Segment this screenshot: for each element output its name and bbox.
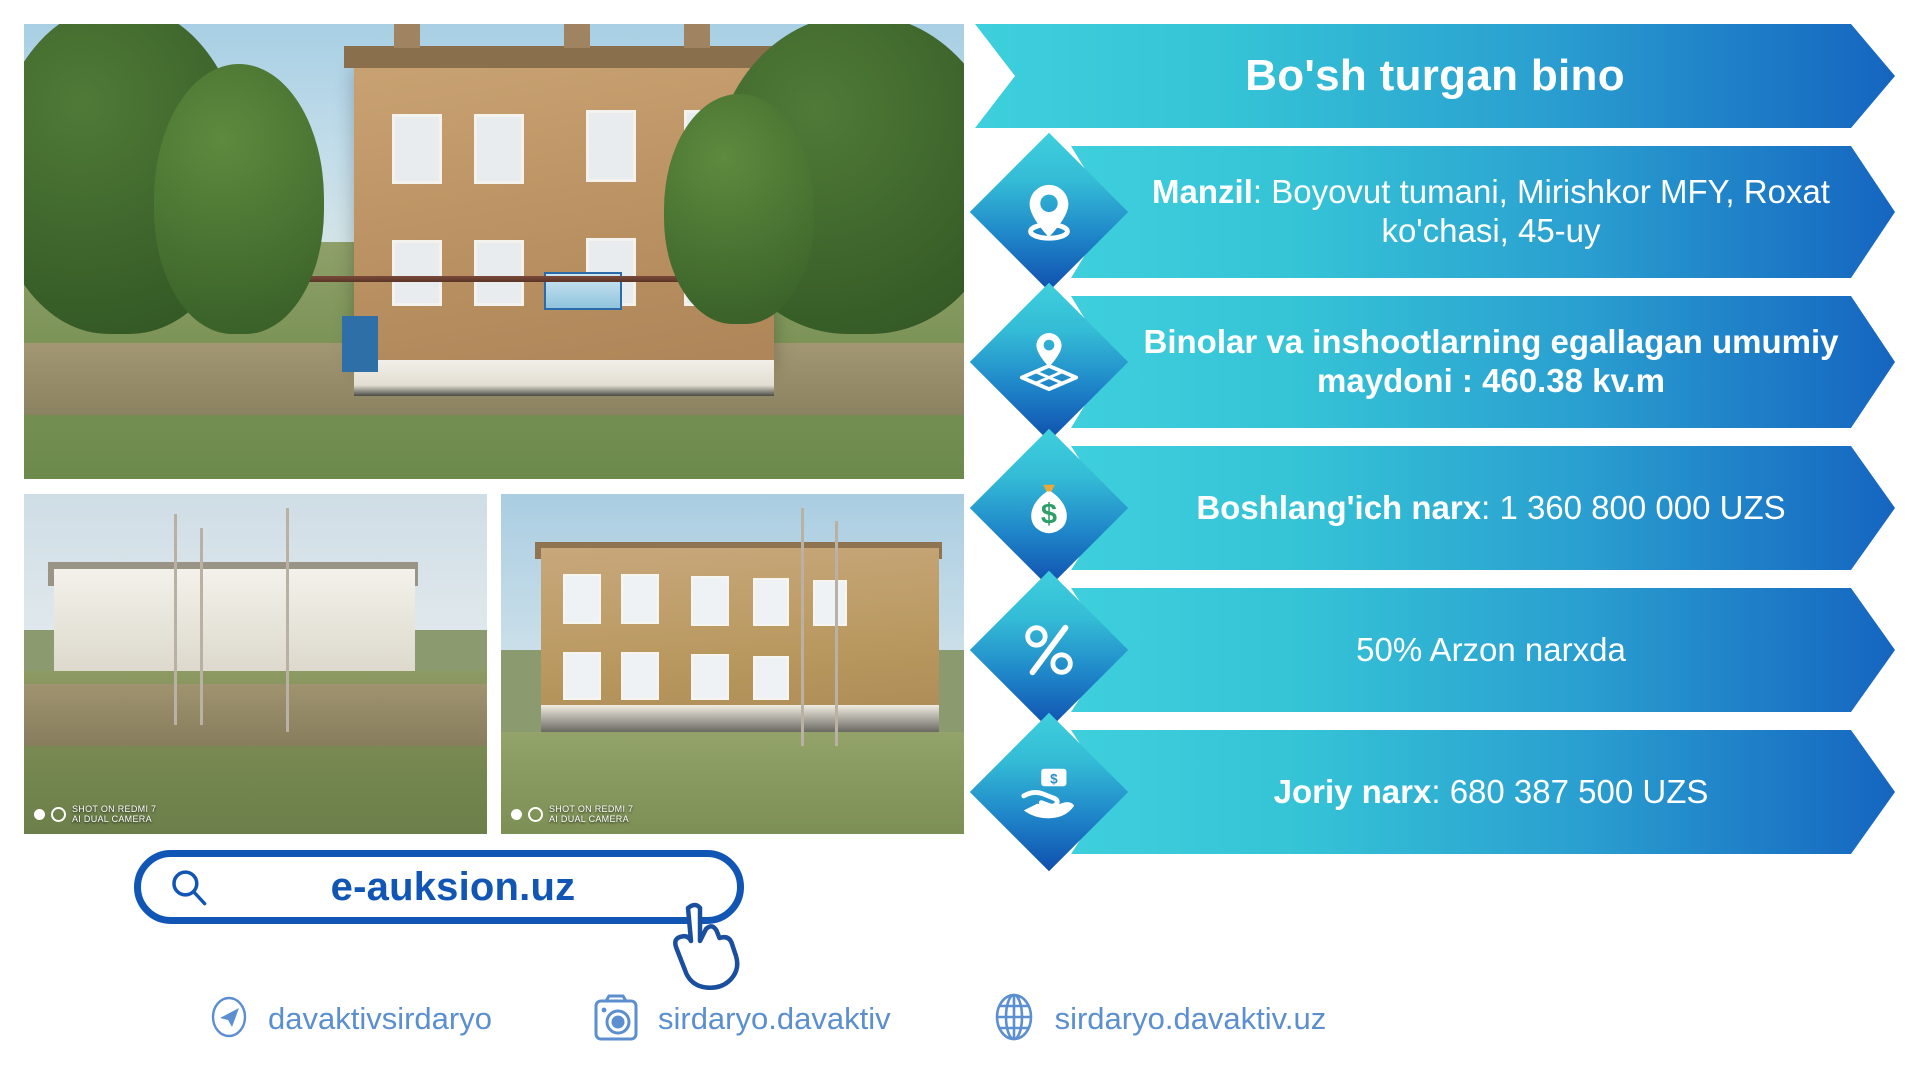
title-bar: Bo'sh turgan bino	[975, 24, 1895, 128]
right-column: Bo'sh turgan bino Manzil: Boyovut tumani…	[975, 24, 1895, 964]
social-label: sirdaryo.davaktiv	[658, 1001, 891, 1037]
window	[621, 574, 659, 624]
detail-text: Boshlang'ich narx: 1 360 800 000 UZS	[1150, 489, 1815, 528]
detail-bar: Manzil: Boyovut tumani, Mirishkor MFY, R…	[1071, 146, 1895, 278]
detail-bar: Joriy narx: 680 387 500 UZS	[1071, 730, 1895, 854]
watermark-ring	[528, 807, 543, 822]
detail-separator: :	[1481, 489, 1499, 526]
window	[691, 576, 729, 626]
window	[392, 240, 442, 306]
instagram-camera-icon	[588, 989, 644, 1050]
detail-row-address: Manzil: Boyovut tumani, Mirishkor MFY, R…	[975, 146, 1895, 278]
hero-photo-scene	[24, 24, 964, 479]
detail-bar: Binolar va inshootlarning egallagan umum…	[1071, 296, 1895, 428]
roof	[344, 46, 784, 68]
camera-watermark: SHOT ON REDMI 7 AI DUAL CAMERA	[34, 805, 156, 824]
detail-value: 1 360 800 000 UZS	[1499, 489, 1785, 526]
detail-value: 680 387 500 UZS	[1450, 773, 1709, 810]
chimney	[684, 24, 710, 48]
watermark-dot	[34, 809, 45, 820]
plinth	[541, 705, 939, 736]
camera-watermark: SHOT ON REDMI 7 AI DUAL CAMERA	[511, 805, 633, 824]
svg-text:$: $	[1050, 771, 1058, 786]
bare-tree	[200, 528, 203, 725]
window	[691, 654, 729, 700]
window	[753, 656, 789, 700]
plinth	[354, 360, 774, 396]
thumbnail-photo-2: SHOT ON REDMI 7 AI DUAL CAMERA	[501, 494, 964, 834]
window	[474, 114, 524, 184]
window	[474, 240, 524, 306]
hand-cursor-icon	[658, 896, 754, 992]
hero-photo	[24, 24, 964, 479]
poster-root: SHOT ON REDMI 7 AI DUAL CAMERA	[0, 0, 1920, 1080]
search-bar[interactable]: e-auksion.uz	[134, 850, 744, 924]
building-area-icon	[993, 306, 1105, 418]
tree	[664, 94, 814, 324]
window	[563, 574, 601, 624]
social-telegram[interactable]: davaktivsirdaryo	[204, 992, 492, 1047]
window	[753, 578, 789, 626]
detail-separator: :	[1431, 773, 1449, 810]
watermark-line-2: AI DUAL CAMERA	[549, 814, 629, 824]
bare-tree	[801, 508, 804, 746]
hand-money-icon: $	[993, 736, 1105, 848]
detail-row-area: Binolar va inshootlarning egallagan umum…	[975, 296, 1895, 428]
detail-row-current-price: Joriy narx: 680 387 500 UZS $	[975, 730, 1895, 854]
brick-building	[541, 548, 939, 725]
location-pin-icon	[993, 156, 1105, 268]
telegram-icon	[204, 992, 254, 1047]
bare-tree	[174, 514, 177, 725]
thumbnail-row: SHOT ON REDMI 7 AI DUAL CAMERA	[24, 494, 964, 834]
page-title: Bo'sh turgan bino	[1245, 51, 1625, 101]
tree	[154, 64, 324, 334]
detail-label: Manzil	[1152, 173, 1253, 210]
window	[621, 652, 659, 700]
title-banner: Bo'sh turgan bino	[975, 24, 1895, 128]
window	[392, 114, 442, 184]
entrance-door	[342, 316, 378, 372]
detail-bar: 50% Arzon narxda	[1071, 588, 1895, 712]
watermark-dot	[511, 809, 522, 820]
watermark-line-2: AI DUAL CAMERA	[72, 814, 152, 824]
thumbnail-photo-1: SHOT ON REDMI 7 AI DUAL CAMERA	[24, 494, 487, 834]
detail-text: 50% Arzon narxda	[1310, 631, 1656, 670]
social-instagram[interactable]: sirdaryo.davaktiv	[588, 989, 891, 1050]
detail-row-discount: 50% Arzon narxda	[975, 588, 1895, 712]
white-wall-building	[54, 569, 415, 671]
social-label: davaktivsirdaryo	[268, 1001, 492, 1037]
detail-bar: Boshlang'ich narx: 1 360 800 000 UZS	[1071, 446, 1895, 570]
bare-tree	[835, 521, 838, 745]
dirt-strip	[24, 684, 487, 745]
detail-value: Boyovut tumani, Mirishkor MFY, Roxat ko'…	[1271, 173, 1830, 249]
left-column: SHOT ON REDMI 7 AI DUAL CAMERA	[24, 24, 964, 1056]
detail-label: Boshlang'ich narx	[1196, 489, 1481, 526]
social-footer: davaktivsirdaryo sirdaryo.davaktiv	[24, 979, 964, 1059]
detail-separator: :	[1253, 173, 1271, 210]
globe-icon	[987, 990, 1041, 1049]
bare-tree	[286, 508, 289, 732]
detail-row-start-price: Boshlang'ich narx: 1 360 800 000 UZS $	[975, 446, 1895, 570]
percent-icon	[993, 594, 1105, 706]
magnifier-icon	[167, 866, 209, 908]
svg-text:$: $	[1041, 499, 1057, 531]
detail-text: Manzil: Boyovut tumani, Mirishkor MFY, R…	[1071, 173, 1895, 251]
detail-label: Joriy narx	[1274, 773, 1432, 810]
detail-text: Binolar va inshootlarning egallagan umum…	[1071, 323, 1895, 401]
chimney	[564, 24, 590, 48]
detail-text: Joriy narx: 680 387 500 UZS	[1228, 773, 1739, 812]
window	[563, 652, 601, 700]
window	[813, 580, 847, 626]
watermark-ring	[51, 807, 66, 822]
social-website[interactable]: sirdaryo.davaktiv.uz	[987, 990, 1327, 1049]
social-label: sirdaryo.davaktiv.uz	[1055, 1001, 1327, 1037]
window	[586, 110, 636, 182]
money-bag-icon: $	[993, 452, 1105, 564]
chimney	[394, 24, 420, 48]
